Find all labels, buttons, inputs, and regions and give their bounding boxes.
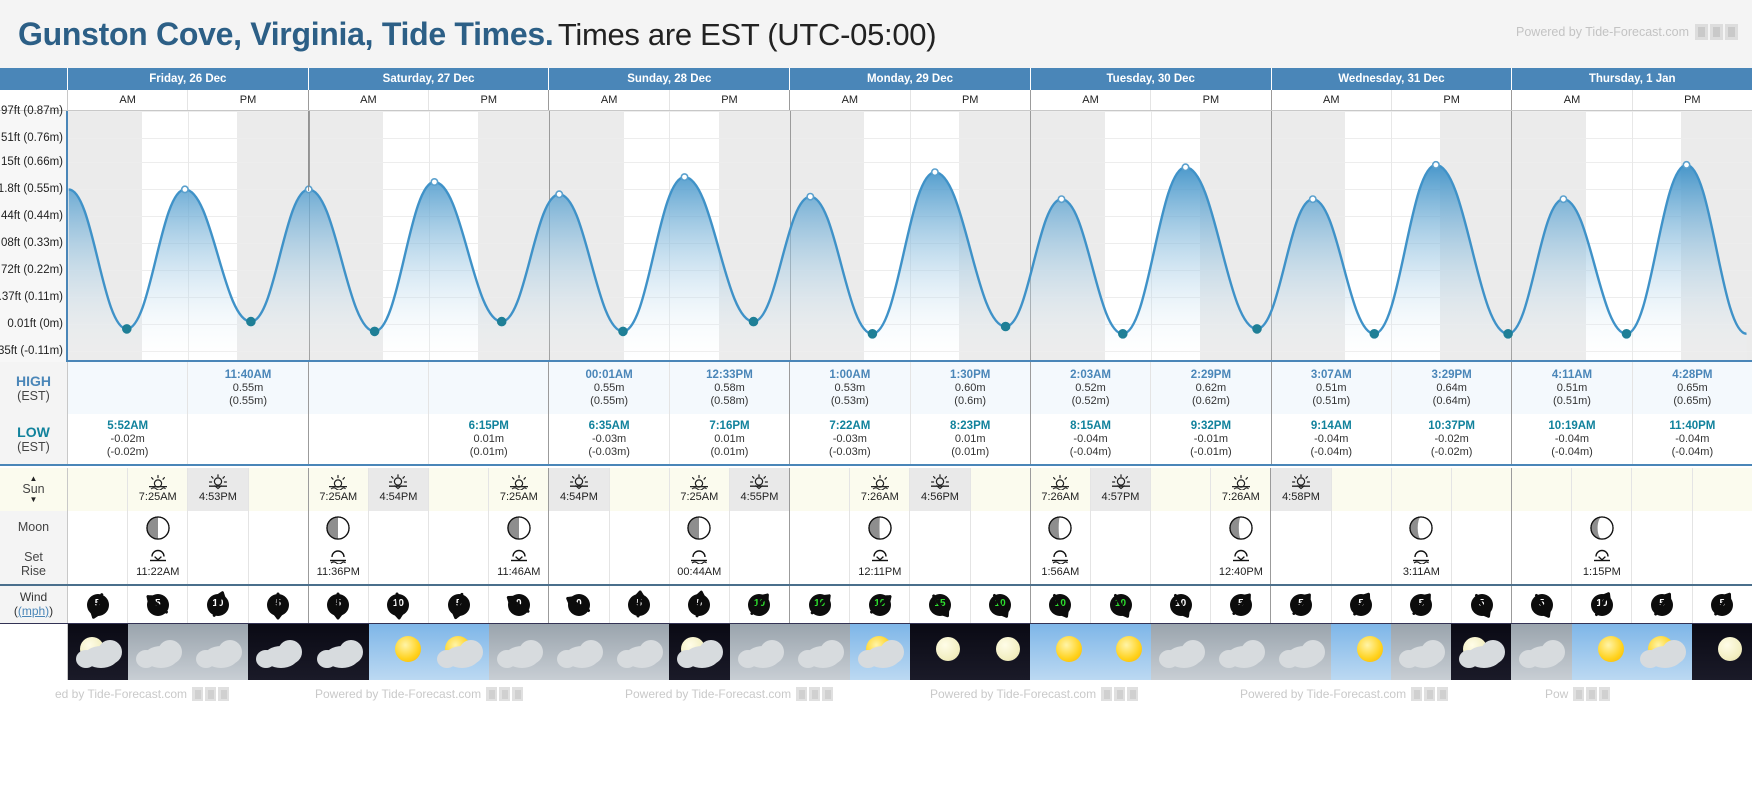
wind-indicator: 10 xyxy=(1104,590,1138,620)
high-tide-marker xyxy=(1433,162,1439,168)
high-tide-cell xyxy=(68,362,188,414)
weather-cell xyxy=(369,624,429,680)
cloud-icon xyxy=(158,640,182,664)
high-tide-height: 0.55m xyxy=(594,382,625,395)
sun-cell: 4:54PM xyxy=(549,468,609,511)
wind-cell: 5 xyxy=(1512,586,1572,623)
moon-setrise-cell xyxy=(1452,544,1512,584)
high-tide-height: 0.62m xyxy=(1196,382,1227,395)
weather-cell xyxy=(910,624,970,680)
cloud-icon xyxy=(1301,640,1325,664)
high-tide-cell: 2:03AM0.52m(0.52m) xyxy=(1031,362,1151,414)
moon-rise-time: 00:44AM xyxy=(677,566,721,579)
sun-icon xyxy=(1056,636,1082,662)
moon-setrise-cell: 11:46AM xyxy=(489,544,549,584)
weather-cell xyxy=(429,624,489,680)
low-tide-marker xyxy=(247,318,255,326)
moon-setrise-cell xyxy=(249,544,309,584)
moonrise-icon xyxy=(1049,549,1071,564)
wind-direction-arrow-icon xyxy=(742,590,776,620)
moon-phase-cell xyxy=(850,511,910,544)
wind-indicator: 5 xyxy=(1705,590,1739,620)
low-tide-height: -0.02m xyxy=(1435,433,1469,446)
sunset-icon xyxy=(1110,474,1132,490)
wind-cell: 5 xyxy=(309,586,369,623)
moon-phase-cell xyxy=(1632,511,1692,544)
low-tide-height-alt: (-0.02m) xyxy=(1431,446,1473,459)
wind-direction-arrow-icon xyxy=(502,590,536,620)
high-tide-time: 1:00AM xyxy=(829,368,870,382)
high-tide-height: 0.51m xyxy=(1316,382,1347,395)
page-header: Gunston Cove, Virginia, Tide Times. Time… xyxy=(0,0,1752,68)
moon-rise-time: 11:36PM xyxy=(317,566,360,579)
sun-cell xyxy=(1693,468,1752,511)
sun-cell: 7:26AM xyxy=(850,468,910,511)
moon-icon xyxy=(996,637,1020,661)
low-tide-cell: 6:15PM0.01m(0.01m) xyxy=(429,414,549,464)
wind-row: Wind ((mph)) 5 5 10 5 5 xyxy=(0,586,1752,624)
chart-plot-area xyxy=(68,111,1752,362)
wind-indicator: 10 xyxy=(983,590,1017,620)
wind-indicator: 5 xyxy=(1284,590,1318,620)
low-tide-time: 7:22AM xyxy=(829,419,870,433)
sun-cell xyxy=(68,468,128,511)
moon-phase-cell xyxy=(610,511,670,544)
wind-direction-arrow-icon xyxy=(1585,590,1619,620)
footer-watermark-text: Pow xyxy=(1545,687,1568,701)
page-footer: ed by Tide-Forecast.com Powered by Tide-… xyxy=(0,680,1752,787)
moon-rise-time: 1:56AM xyxy=(1041,566,1079,579)
tide-chart-page: Gunston Cove, Virginia, Tide Times. Time… xyxy=(0,0,1752,787)
moon-phase-cell xyxy=(369,511,429,544)
moon-phase-icon xyxy=(1229,516,1253,540)
weather-cell xyxy=(790,624,850,680)
wind-direction-arrow-icon xyxy=(682,590,716,620)
wind-cell: 10 xyxy=(971,586,1031,623)
high-label: HIGH xyxy=(16,373,51,389)
moon-phase-cell xyxy=(1271,511,1331,544)
weather-icon-row xyxy=(0,624,1752,680)
high-tide-height-alt: (0.55m) xyxy=(229,395,267,408)
footer-watermark: Powered by Tide-Forecast.com xyxy=(1240,687,1448,701)
weather-cell xyxy=(1572,624,1632,680)
low-tide-height-alt: (-0.02m) xyxy=(107,446,149,459)
high-tide-marker xyxy=(1310,196,1316,202)
sunrise-icon xyxy=(147,474,169,490)
moonset-icon xyxy=(147,549,169,564)
weather-cell xyxy=(970,624,1030,680)
wind-cell: 5 xyxy=(1693,586,1752,623)
brand-label: Powered by Tide-Forecast.com xyxy=(1516,25,1689,39)
wind-cell: 5 xyxy=(1632,586,1692,623)
high-tide-height-alt: (0.52m) xyxy=(1072,395,1110,408)
moon-setrise-cell xyxy=(549,544,609,584)
wind-direction-arrow-icon xyxy=(201,590,235,620)
cloud-icon xyxy=(339,640,363,664)
wind-cell: 10 xyxy=(730,586,790,623)
sunset-time: 4:55PM xyxy=(741,491,779,504)
sun-cell xyxy=(249,468,309,511)
wind-direction-arrow-icon xyxy=(1465,590,1499,620)
low-tide-height-alt: (-0.04m) xyxy=(1070,446,1112,459)
high-tide-cell: 11:40AM0.55m(0.55m) xyxy=(188,362,308,414)
low-tide-time: 6:15PM xyxy=(469,419,509,433)
cloud-icon xyxy=(1219,650,1239,668)
sunrise-icon xyxy=(327,474,349,490)
wind-cell: 10 xyxy=(1572,586,1632,623)
ampm-header-cell: PM xyxy=(911,90,1031,110)
wind-cell: 5 xyxy=(670,586,730,623)
sun-cell: 7:25AM xyxy=(670,468,730,511)
wind-cell: 10 xyxy=(1091,586,1151,623)
moon-setrise-cell: 11:36PM xyxy=(309,544,369,584)
moon-setrise-cell xyxy=(910,544,970,584)
wind-unit-link[interactable]: (mph) xyxy=(18,604,49,618)
weather-cell xyxy=(1211,624,1271,680)
sun-cell: 7:25AM xyxy=(489,468,549,511)
sunset-time: 4:56PM xyxy=(921,491,959,504)
weather-cell xyxy=(669,624,729,680)
wind-cell: 5 xyxy=(1332,586,1392,623)
moon-phase-cell xyxy=(188,511,248,544)
wind-cell: 0 xyxy=(489,586,549,623)
weather-cell xyxy=(1451,624,1511,680)
high-tide-cell: 00:01AM0.55m(0.55m) xyxy=(549,362,669,414)
moon-setrise-cell: 12:40PM xyxy=(1211,544,1271,584)
moon-phase-icon xyxy=(687,516,711,540)
y-axis-tick-label: -0.35ft (-0.11m) xyxy=(0,345,63,357)
sunrise-icon xyxy=(869,474,891,490)
moon-phase-icon xyxy=(1048,516,1072,540)
wind-indicator: 5 xyxy=(1224,590,1258,620)
low-tide-marker xyxy=(1370,330,1378,338)
sun-row-label: ▲ Sun ▼ xyxy=(0,468,68,511)
sun-cell: 7:25AM xyxy=(309,468,369,511)
moonrise-icon xyxy=(327,549,349,564)
moonrise-icon xyxy=(688,549,710,564)
moonset-icon xyxy=(508,549,530,564)
wind-cell: 10 xyxy=(188,586,248,623)
moon-phase-cell xyxy=(1031,511,1091,544)
moon-setrise-cell: 1:15PM xyxy=(1572,544,1632,584)
moon-set-time: 11:46AM xyxy=(497,566,540,579)
low-tide-marker xyxy=(498,318,506,326)
low-tide-height-alt: (-0.03m) xyxy=(829,446,871,459)
high-tide-height-alt: (0.55m) xyxy=(590,395,628,408)
cloud-icon xyxy=(136,650,156,668)
sun-cell: 7:26AM xyxy=(1031,468,1091,511)
low-tide-height: -0.04m xyxy=(1675,433,1709,446)
weather-cell xyxy=(850,624,910,680)
sunset-time: 4:57PM xyxy=(1102,491,1140,504)
cloud-icon xyxy=(557,650,577,668)
low-tide-height-alt: (-0.01m) xyxy=(1190,446,1232,459)
sun-cell xyxy=(1392,468,1452,511)
moonset-icon xyxy=(1230,549,1252,564)
wind-cell: 0 xyxy=(549,586,609,623)
wind-direction-arrow-icon xyxy=(622,590,656,620)
wind-cell: 5 xyxy=(1271,586,1331,623)
low-tide-cell xyxy=(188,414,308,464)
ampm-header-cell: PM xyxy=(1392,90,1512,110)
moon-phase-cell xyxy=(670,511,730,544)
y-axis-tick-label: 0.01ft (0m) xyxy=(7,318,63,330)
wind-cell: 10 xyxy=(850,586,910,623)
moon-setrise-cell xyxy=(1512,544,1572,584)
sun-cell xyxy=(1452,468,1512,511)
moon-phase-icon xyxy=(1590,516,1614,540)
moon-setrise-cell xyxy=(971,544,1031,584)
sunrise-time: 7:26AM xyxy=(1041,491,1079,504)
ampm-header-cell: AM xyxy=(1512,90,1632,110)
sun-icon xyxy=(1598,636,1624,662)
moonset-icon xyxy=(1591,549,1613,564)
footer-watermark: Powered by Tide-Forecast.com xyxy=(930,687,1138,701)
y-axis-tick-label: 0.72ft (0.22m) xyxy=(0,264,63,276)
weather-cell xyxy=(1331,624,1391,680)
wind-indicator: 10 xyxy=(201,590,235,620)
low-tide-time: 8:15AM xyxy=(1070,419,1111,433)
high-tide-height-alt: (0.51m) xyxy=(1312,395,1350,408)
low-tide-cell: 8:23PM0.01m(0.01m) xyxy=(911,414,1031,464)
moon-setrise-cell: 3:11AM xyxy=(1392,544,1452,584)
cloud-icon xyxy=(738,650,758,668)
footer-watermarks: ed by Tide-Forecast.com Powered by Tide-… xyxy=(0,680,1752,708)
cloud-icon xyxy=(1279,650,1299,668)
high-tide-height: 0.64m xyxy=(1436,382,1467,395)
moon-phase-cell xyxy=(489,511,549,544)
moon-phase-cell xyxy=(1452,511,1512,544)
moon-phase-icon xyxy=(868,516,892,540)
ampm-header-row: AMPMAMPMAMPMAMPMAMPMAMPMAMPM xyxy=(0,90,1752,111)
cloud-icon xyxy=(1181,640,1205,664)
moon-phase-cell xyxy=(1572,511,1632,544)
low-tide-cell: 9:32PM-0.01m(-0.01m) xyxy=(1151,414,1271,464)
moon-phase-cell xyxy=(1332,511,1392,544)
low-tide-cell xyxy=(309,414,429,464)
sunrise-icon xyxy=(508,474,530,490)
moon-phase-cell xyxy=(249,511,309,544)
low-tide-time: 5:52AM xyxy=(107,419,148,433)
low-tide-cell: 9:14AM-0.04m(-0.04m) xyxy=(1272,414,1392,464)
wind-direction-arrow-icon xyxy=(1645,590,1679,620)
low-tide-time: 8:23PM xyxy=(950,419,990,433)
low-tide-time: 6:35AM xyxy=(589,419,630,433)
wind-indicator: 0 xyxy=(562,590,596,620)
wind-indicator: 10 xyxy=(1585,590,1619,620)
day-header-cell: Sunday, 28 Dec xyxy=(549,68,790,90)
day-header-corner xyxy=(0,68,68,90)
sunrise-icon xyxy=(1230,474,1252,490)
moon-phase-icon xyxy=(146,516,170,540)
moon-icon xyxy=(936,637,960,661)
wind-indicator: 5 xyxy=(81,590,115,620)
weather-cell xyxy=(1090,624,1150,680)
low-tide-height-alt: (0.01m) xyxy=(470,446,508,459)
ampm-header-cell: PM xyxy=(188,90,308,110)
sunrise-time: 7:25AM xyxy=(319,491,357,504)
sun-row: ▲ Sun ▼ 7:25AM 4:53PM xyxy=(0,468,1752,511)
low-tide-marker xyxy=(1623,330,1631,338)
low-tide-marker xyxy=(1002,323,1010,331)
weather-cell xyxy=(1632,624,1692,680)
cloud-icon xyxy=(639,640,663,664)
footer-marks-icon xyxy=(796,687,833,701)
wind-direction-arrow-icon xyxy=(1344,590,1378,620)
wind-cell: 10 xyxy=(369,586,429,623)
cloud-icon xyxy=(459,640,483,664)
moon-phase-cell xyxy=(730,511,790,544)
ampm-header-cell: AM xyxy=(1031,90,1151,110)
high-tide-cell: 4:11AM0.51m(0.51m) xyxy=(1512,362,1632,414)
low-tide-height: 0.01m xyxy=(714,433,745,446)
weather-cell xyxy=(730,624,790,680)
high-tide-marker xyxy=(556,191,562,197)
high-tide-time: 2:03AM xyxy=(1070,368,1111,382)
cloud-icon xyxy=(1241,640,1265,664)
moon-setrise-cell xyxy=(730,544,790,584)
high-tide-time: 11:40AM xyxy=(225,368,272,382)
weather-row-label xyxy=(0,624,68,680)
low-tide-height: -0.04m xyxy=(1314,433,1348,446)
high-tide-cell: 2:29PM0.62m(0.62m) xyxy=(1151,362,1271,414)
wind-direction-arrow-icon xyxy=(983,590,1017,620)
set-label: Set xyxy=(24,550,43,564)
low-tide-marker xyxy=(1119,330,1127,338)
high-tide-height: 0.58m xyxy=(714,382,745,395)
sun-cell: 4:57PM xyxy=(1091,468,1151,511)
high-tide-marker xyxy=(431,179,437,185)
page-title-main: Gunston Cove, Virginia, Tide Times. xyxy=(18,16,553,52)
high-tide-marker xyxy=(932,169,938,175)
high-tide-row-label: HIGH (EST) xyxy=(0,362,68,414)
low-tide-cell: 6:35AM-0.03m(-0.03m) xyxy=(549,414,669,464)
brand-marks-icon xyxy=(1695,24,1738,40)
wind-direction-arrow-icon xyxy=(1525,590,1559,620)
y-axis-tick-label: 2.51ft (0.76m) xyxy=(0,132,63,144)
wind-direction-arrow-icon xyxy=(442,590,476,620)
footer-watermark-text: Powered by Tide-Forecast.com xyxy=(625,687,791,701)
sunrise-icon xyxy=(688,474,710,490)
sunset-icon xyxy=(929,474,951,490)
low-tide-cell: 8:15AM-0.04m(-0.04m) xyxy=(1031,414,1151,464)
high-tide-marker xyxy=(1058,196,1064,202)
low-tide-marker xyxy=(619,327,627,335)
sun-cell xyxy=(610,468,670,511)
wind-direction-arrow-icon xyxy=(562,590,596,620)
moon-setrise-cell: 00:44AM xyxy=(670,544,730,584)
wind-indicator: 5 xyxy=(321,590,355,620)
wind-indicator: 15 xyxy=(923,590,957,620)
low-tide-cell: 10:37PM-0.02m(-0.02m) xyxy=(1392,414,1512,464)
moon-set-time: 12:11PM xyxy=(858,566,901,579)
weather-cell xyxy=(1271,624,1331,680)
moonrise-icon xyxy=(1410,549,1432,564)
tide-curve xyxy=(68,111,1752,362)
sunset-icon xyxy=(1290,474,1312,490)
cloud-icon xyxy=(1640,650,1660,668)
ampm-header-cell: AM xyxy=(1272,90,1392,110)
footer-marks-icon xyxy=(1101,687,1138,701)
high-tide-time: 4:28PM xyxy=(1672,368,1712,382)
sunrise-time: 7:25AM xyxy=(139,491,177,504)
high-tide-marker xyxy=(182,186,188,192)
wind-direction-arrow-icon xyxy=(261,590,295,620)
weather-cell xyxy=(1030,624,1090,680)
high-tide-time: 00:01AM xyxy=(585,368,632,382)
low-tide-height-alt: (-0.03m) xyxy=(588,446,630,459)
low-tide-height: 0.01m xyxy=(473,433,504,446)
wind-indicator: 5 xyxy=(1404,590,1438,620)
wind-cell: 5 xyxy=(68,586,128,623)
wind-indicator: 10 xyxy=(863,590,897,620)
ampm-header-cell: AM xyxy=(790,90,910,110)
low-tide-height-alt: (-0.04m) xyxy=(1672,446,1714,459)
wind-indicator: 5 xyxy=(1525,590,1559,620)
moon-phase-cell xyxy=(1091,511,1151,544)
weather-cell xyxy=(248,624,308,680)
high-tide-height: 0.53m xyxy=(835,382,866,395)
cloud-icon xyxy=(519,640,543,664)
sun-cell: 4:56PM xyxy=(910,468,970,511)
footer-watermark: Pow xyxy=(1545,687,1610,701)
low-tide-cell: 7:16PM0.01m(0.01m) xyxy=(670,414,790,464)
wind-direction-arrow-icon xyxy=(1284,590,1318,620)
wind-cell: 5 xyxy=(128,586,188,623)
sun-cell: 7:25AM xyxy=(128,468,188,511)
day-header-cell: Friday, 26 Dec xyxy=(68,68,309,90)
high-tide-time: 4:11AM xyxy=(1552,368,1592,382)
cloud-icon xyxy=(76,650,96,668)
footer-marks-icon xyxy=(486,687,523,701)
sunrise-time: 7:25AM xyxy=(500,491,538,504)
footer-marks-icon xyxy=(1573,687,1610,701)
moon-setrise-row: Set Rise 11:22AM 11:36PM 11:46AM 00:44AM… xyxy=(0,544,1752,586)
low-label: LOW xyxy=(17,424,50,440)
sun-cell: 7:26AM xyxy=(1211,468,1271,511)
sun-cell xyxy=(1572,468,1632,511)
low-tide-time: 10:19AM xyxy=(1548,419,1595,433)
high-tide-height-alt: (0.58m) xyxy=(711,395,749,408)
footer-marks-icon xyxy=(1411,687,1448,701)
cloud-icon xyxy=(880,640,904,664)
moon-phase-icon xyxy=(1409,516,1433,540)
wind-direction-arrow-icon xyxy=(1104,590,1138,620)
moon-phase-cell xyxy=(68,511,128,544)
low-tide-height: -0.03m xyxy=(592,433,626,446)
ampm-header-cell: PM xyxy=(1151,90,1271,110)
high-tide-marker xyxy=(1683,162,1689,168)
cloud-icon xyxy=(437,650,457,668)
moon-phase-row: Moon xyxy=(0,511,1752,544)
wind-label: Wind xyxy=(20,591,47,605)
sun-cell xyxy=(1632,468,1692,511)
low-tide-height-alt: (0.01m) xyxy=(711,446,749,459)
moon-phase-icon xyxy=(507,516,531,540)
moon-setrise-cell xyxy=(369,544,429,584)
moon-phase-cell xyxy=(549,511,609,544)
moon-set-time: 11:22AM xyxy=(136,566,179,579)
wind-direction-arrow-icon xyxy=(1705,590,1739,620)
cloud-icon xyxy=(218,640,242,664)
wind-indicator: 5 xyxy=(261,590,295,620)
wind-direction-arrow-icon xyxy=(321,590,355,620)
cloud-icon xyxy=(317,650,337,668)
low-tide-time: 10:37PM xyxy=(1428,419,1475,433)
wind-direction-arrow-icon xyxy=(803,590,837,620)
sun-cell: 4:55PM xyxy=(730,468,790,511)
day-header-cell: Saturday, 27 Dec xyxy=(309,68,550,90)
